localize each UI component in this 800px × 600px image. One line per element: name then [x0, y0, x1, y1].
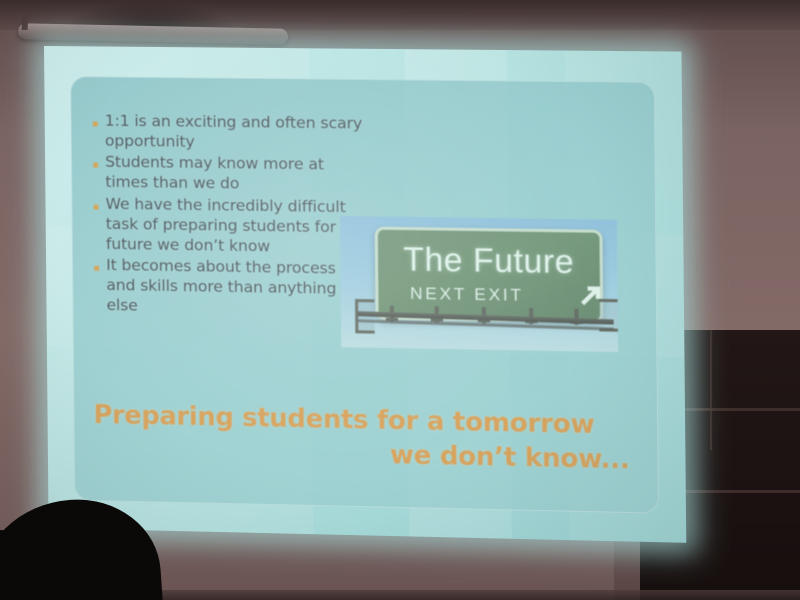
highway-sign-photo: The Future NEXT EXIT — [340, 216, 618, 352]
list-item: Students may know more at times than we … — [93, 152, 364, 196]
slide-headline: Preparing students for a tomorrow we don… — [93, 399, 633, 478]
bullet-marker-icon — [93, 163, 98, 168]
projection-haze — [340, 216, 618, 352]
bullet-marker-icon — [93, 122, 98, 127]
bullet-text: 1:1 is an exciting and often scary oppor… — [105, 111, 364, 154]
bullet-marker-icon — [94, 266, 99, 271]
lecture-room-photo: 1:1 is an exciting and often scary oppor… — [0, 0, 800, 600]
bullet-list: 1:1 is an exciting and often scary oppor… — [93, 111, 366, 321]
cabinet-edge — [710, 330, 712, 450]
bullet-marker-icon — [94, 204, 99, 209]
slide-surface: 1:1 is an exciting and often scary oppor… — [44, 46, 686, 543]
bullet-text: It becomes about the process and skills … — [106, 255, 365, 320]
projected-slide: 1:1 is an exciting and often scary oppor… — [44, 46, 686, 543]
list-item: It becomes about the process and skills … — [94, 255, 365, 320]
bullet-text: We have the incredibly difficult task of… — [105, 193, 364, 257]
list-item: We have the incredibly difficult task of… — [93, 193, 364, 258]
bullet-text: Students may know more at times than we … — [105, 152, 364, 196]
roller-bracket — [22, 14, 29, 30]
list-item: 1:1 is an exciting and often scary oppor… — [93, 111, 364, 155]
